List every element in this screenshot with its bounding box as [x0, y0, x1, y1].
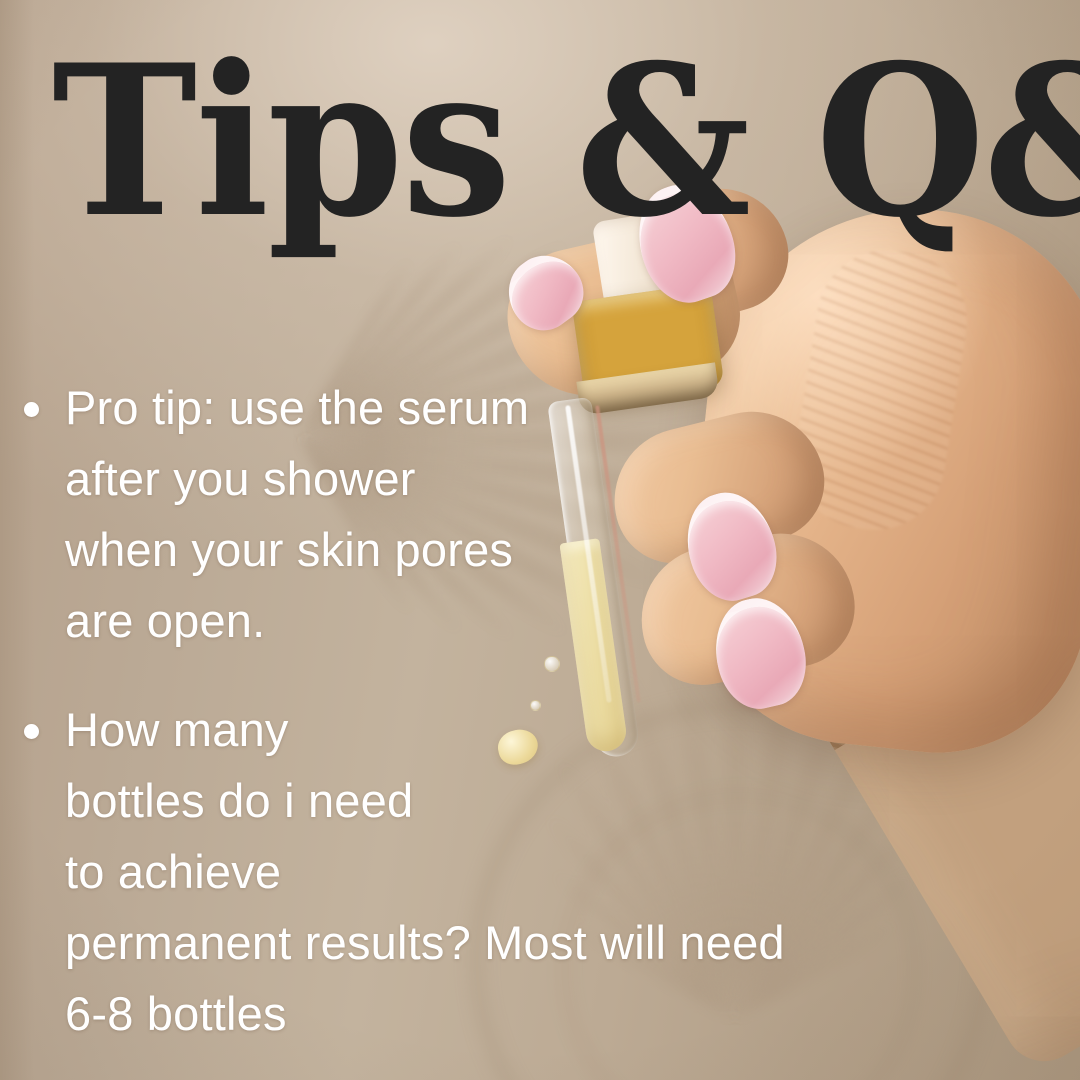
- bullet-dot-icon: [24, 724, 39, 739]
- list-item: How many bottles do i need to achieve pe…: [18, 694, 785, 1049]
- list-item-text: Pro tip: use the serum after you shower …: [65, 372, 529, 656]
- list-item: Pro tip: use the serum after you shower …: [18, 372, 529, 656]
- poster-canvas: Tips & Q&A Pro tip: use the serum after …: [0, 0, 1080, 1080]
- bullet-dot-icon: [24, 402, 39, 417]
- page-title: Tips & Q&A: [52, 38, 1047, 246]
- list-item-text: How many bottles do i need to achieve pe…: [65, 694, 785, 1049]
